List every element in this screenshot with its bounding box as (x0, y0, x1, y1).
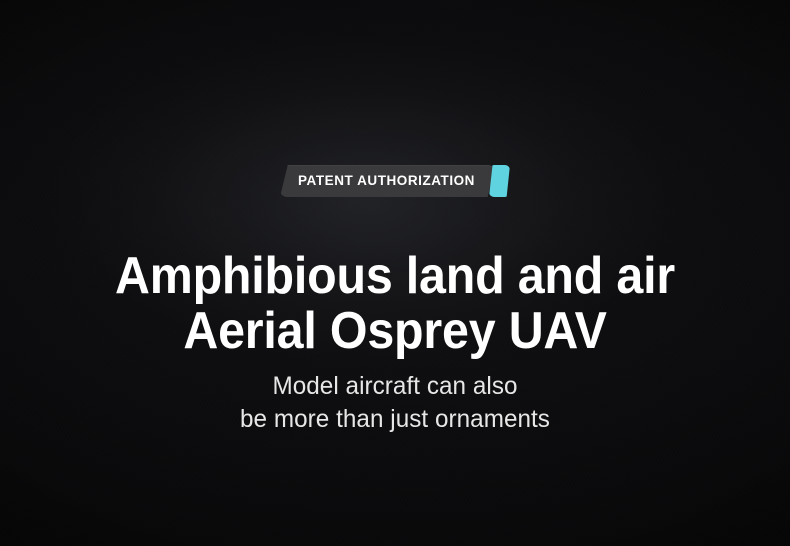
page-title: Amphibious land and air Aerial Osprey UA… (28, 249, 763, 360)
banner-content: PATENT AUTHORIZATION Amphibious land and… (0, 0, 790, 546)
headline-line-1: Amphibious land and air (28, 249, 763, 305)
patent-authorization-badge: PATENT AUTHORIZATION (280, 165, 510, 197)
promo-banner: PATENT AUTHORIZATION Amphibious land and… (0, 0, 790, 546)
badge-plate: PATENT AUTHORIZATION (280, 165, 495, 197)
subtitle-line-2: be more than just ornaments (12, 403, 778, 436)
badge-row: PATENT AUTHORIZATION (0, 165, 790, 197)
badge-label: PATENT AUTHORIZATION (298, 174, 475, 188)
subtitle-line-1: Model aircraft can also (12, 370, 778, 403)
page-subtitle: Model aircraft can also be more than jus… (12, 370, 778, 437)
badge-accent-shape (489, 165, 510, 197)
headline-line-2: Aerial Osprey UAV (28, 304, 763, 360)
